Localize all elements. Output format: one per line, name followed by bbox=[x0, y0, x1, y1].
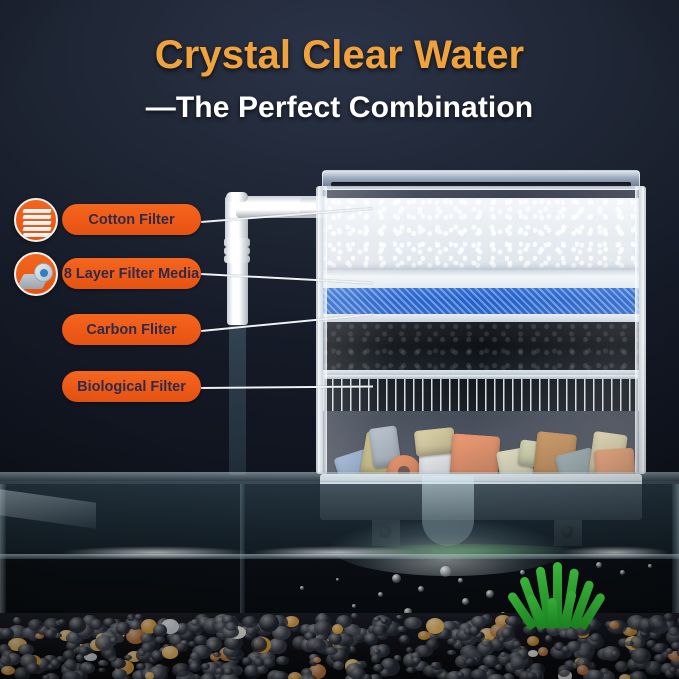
gravel-pebble bbox=[538, 647, 548, 656]
gravel-pebble bbox=[0, 655, 11, 665]
drip-plate bbox=[323, 375, 639, 411]
gravel-pebble bbox=[136, 663, 146, 669]
gravel-pebble bbox=[332, 624, 343, 634]
gravel-pebble bbox=[313, 657, 321, 663]
gravel-pebble bbox=[44, 629, 57, 639]
gravel-pebble bbox=[314, 621, 332, 634]
gravel-pebble bbox=[90, 619, 102, 630]
gravel-pebble bbox=[418, 631, 430, 639]
gravel-pebble bbox=[47, 664, 55, 671]
gravel-pebble bbox=[1, 666, 15, 675]
surface-foam-2 bbox=[250, 546, 420, 559]
gravel-pebble bbox=[625, 641, 634, 646]
gravel-pebble bbox=[351, 613, 358, 618]
gravel-pebble bbox=[396, 615, 403, 619]
gravel-pebble bbox=[447, 650, 456, 656]
blue-filter-layer bbox=[323, 288, 639, 314]
gravel-pebble bbox=[528, 650, 538, 657]
gravel-pebble bbox=[630, 671, 647, 679]
gravel-pebble bbox=[558, 665, 571, 676]
gravel-pebble bbox=[134, 614, 143, 620]
gravel-pebble bbox=[162, 646, 178, 658]
biological-media-chamber bbox=[323, 411, 639, 474]
gravel-pebble bbox=[69, 617, 85, 631]
gravel-pebble bbox=[223, 668, 234, 676]
surface-foam-1 bbox=[60, 546, 250, 559]
callout-pill-2[interactable]: Carbon Fliter bbox=[62, 314, 201, 345]
gravel-pebble bbox=[127, 614, 135, 621]
gravel-pebble bbox=[611, 651, 619, 656]
product-image-scene: Crystal Clear Water —The Perfect Combina… bbox=[0, 0, 679, 679]
gravel-pebble bbox=[397, 626, 407, 632]
water-bubble bbox=[336, 578, 339, 581]
surface-foam-3 bbox=[560, 546, 670, 559]
gravel-pebble bbox=[124, 655, 132, 660]
water-bubble bbox=[392, 574, 401, 583]
cotton-pads-icon bbox=[14, 198, 58, 242]
gravel-pebble bbox=[13, 617, 21, 624]
gravel-pebble bbox=[668, 627, 679, 636]
gravel-pebble bbox=[567, 641, 581, 652]
water-bubble bbox=[486, 590, 494, 598]
gravel-pebble bbox=[481, 639, 491, 647]
gravel-pebble bbox=[116, 622, 131, 635]
gravel-pebble bbox=[648, 615, 667, 630]
gravel-pebble bbox=[0, 628, 14, 640]
gravel-pebble bbox=[406, 667, 416, 673]
gravel-pebble bbox=[373, 664, 384, 672]
gravel-pebble bbox=[245, 665, 258, 676]
gravel-pebble bbox=[406, 647, 413, 653]
water-bubble bbox=[352, 604, 356, 608]
gravel-pebble bbox=[587, 670, 604, 679]
bio-media-piece bbox=[414, 427, 456, 457]
gravel-pebble bbox=[155, 636, 165, 643]
gravel-pebble bbox=[373, 649, 380, 654]
gravel-pebble bbox=[276, 656, 288, 665]
gravel-pebble bbox=[58, 619, 66, 625]
water-bubble bbox=[462, 598, 469, 605]
rolled-media-glyph bbox=[16, 254, 56, 294]
water-bubble bbox=[418, 586, 424, 592]
tank-rim bbox=[0, 472, 679, 481]
gravel-pebble bbox=[190, 652, 200, 661]
gravel-pebble bbox=[98, 668, 105, 673]
gravel-pebble bbox=[609, 621, 619, 628]
gravel-pebble bbox=[471, 669, 487, 679]
gravel-pebble bbox=[545, 635, 553, 642]
gravel-pebble bbox=[615, 661, 628, 672]
water-bubble bbox=[440, 566, 451, 577]
gravel-pebble bbox=[98, 660, 108, 666]
tank-glass-seam bbox=[240, 484, 245, 634]
gravel-pebble bbox=[145, 672, 154, 679]
gravel-pebble bbox=[526, 672, 538, 679]
water-bubble bbox=[596, 562, 602, 568]
gravel-pebble bbox=[138, 650, 145, 656]
gravel-pebble bbox=[399, 635, 410, 643]
hang-on-back-filter-unit bbox=[316, 170, 646, 510]
gravel-pebble bbox=[404, 617, 422, 630]
gravel-pebble bbox=[426, 639, 438, 649]
gravel-pebble bbox=[200, 673, 217, 679]
artificial-aquarium-plant bbox=[525, 560, 587, 628]
gravel-pebble bbox=[42, 675, 50, 679]
water-bubble bbox=[648, 564, 652, 568]
gravel-pebble bbox=[505, 616, 521, 626]
callout-pill-0[interactable]: Cotton Filter bbox=[62, 204, 201, 235]
gravel-pebble bbox=[140, 633, 155, 643]
gravel-pebble bbox=[498, 637, 506, 643]
callout-group: Cotton Filter8 Layer Filter MediaCarbon … bbox=[0, 0, 340, 420]
gravel-pebble bbox=[500, 652, 507, 658]
water-bubble bbox=[378, 592, 383, 597]
water-bubble bbox=[458, 578, 463, 583]
carbon-filter-layer bbox=[323, 322, 639, 370]
rolled-media-icon bbox=[14, 252, 58, 296]
callout-pill-3[interactable]: Biological Filter bbox=[62, 371, 201, 402]
gravel-pebble bbox=[213, 652, 221, 657]
gravel-pebble bbox=[201, 663, 210, 669]
callout-pill-1[interactable]: 8 Layer Filter Media bbox=[62, 258, 201, 289]
frame-post-right bbox=[635, 186, 644, 474]
gravel-pebble bbox=[268, 638, 287, 653]
gravel-pebble bbox=[112, 669, 127, 679]
gravel-pebble bbox=[412, 657, 420, 664]
filter-media-layer bbox=[323, 270, 639, 288]
gravel-pebble bbox=[153, 624, 167, 636]
filter-media-tank bbox=[316, 186, 646, 474]
gravel-pebble bbox=[447, 638, 457, 645]
gravel-pebble bbox=[527, 636, 539, 646]
gravel-pebble bbox=[28, 619, 43, 631]
water-bubble bbox=[620, 570, 625, 575]
gravel-pebble bbox=[426, 618, 444, 634]
gravel-pebble bbox=[271, 671, 289, 679]
gravel-pebble bbox=[62, 671, 81, 679]
gravel-pebble bbox=[259, 614, 279, 632]
gravel-pebble bbox=[333, 661, 345, 670]
plant-blade bbox=[547, 598, 558, 628]
water-bubble bbox=[300, 586, 304, 590]
tank-glass-right bbox=[672, 484, 679, 634]
gravel-pebble bbox=[76, 654, 85, 662]
gravel-pebble bbox=[350, 668, 366, 679]
cotton-pads-glyph bbox=[16, 200, 56, 240]
gravel-pebble bbox=[130, 621, 141, 630]
gravel-pebble bbox=[510, 656, 526, 670]
